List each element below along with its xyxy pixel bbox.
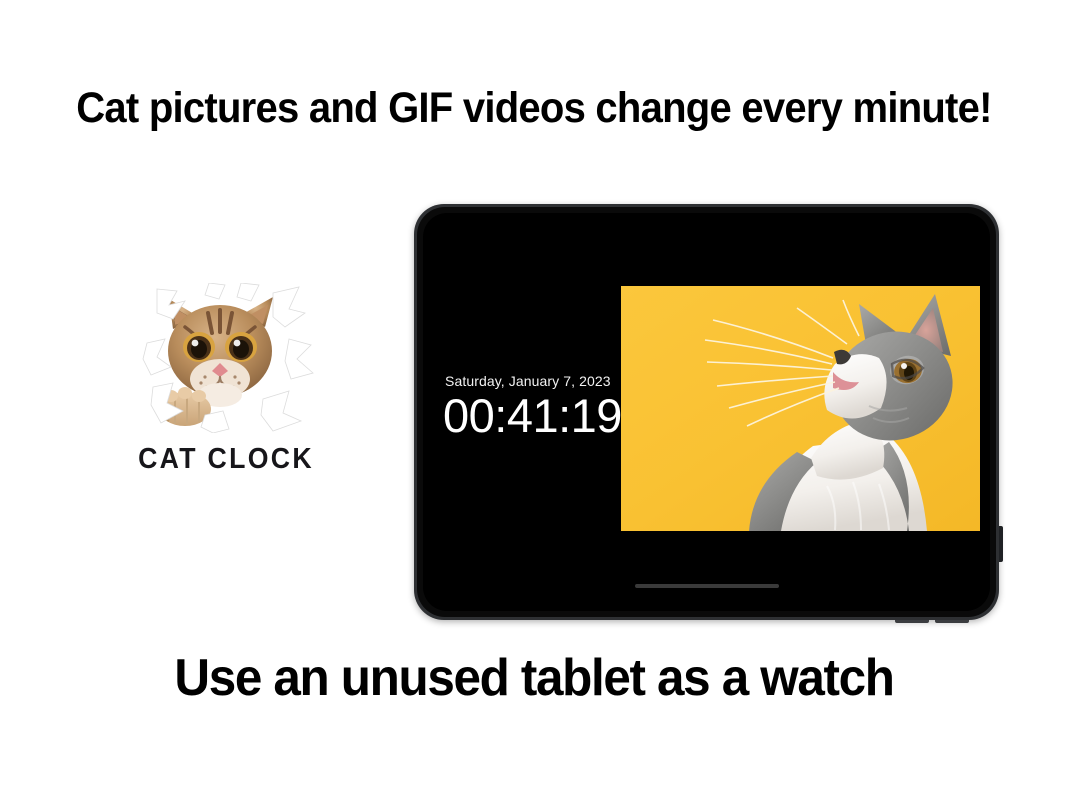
- app-name-label: CAT CLOCK: [122, 443, 330, 476]
- app-logo: [113, 283, 339, 433]
- speaker-grill-right: [935, 620, 969, 623]
- clock-date: Saturday, January 7, 2023: [443, 373, 622, 389]
- home-indicator[interactable]: [635, 584, 779, 588]
- tablet-device: Saturday, January 7, 2023 00:41:19: [414, 204, 999, 620]
- grey-white-cat-looking-up-image: [621, 286, 980, 531]
- speaker-grill-left: [895, 620, 929, 623]
- cat-media-panel[interactable]: [621, 286, 980, 531]
- power-button[interactable]: [999, 526, 1003, 562]
- clock-time: 00:41:19: [443, 392, 622, 439]
- brand-block: CAT CLOCK: [113, 283, 339, 493]
- cat-photo: [621, 286, 980, 531]
- cat-bursting-through-paper-icon: [113, 283, 339, 433]
- clock-widget: Saturday, January 7, 2023 00:41:19: [443, 373, 622, 439]
- tablet-screen[interactable]: Saturday, January 7, 2023 00:41:19: [423, 213, 990, 611]
- tablet-bezel: Saturday, January 7, 2023 00:41:19: [417, 207, 996, 617]
- headline-top: Cat pictures and GIF videos change every…: [37, 84, 1030, 133]
- headline-bottom: Use an unused tablet as a watch: [27, 648, 1042, 708]
